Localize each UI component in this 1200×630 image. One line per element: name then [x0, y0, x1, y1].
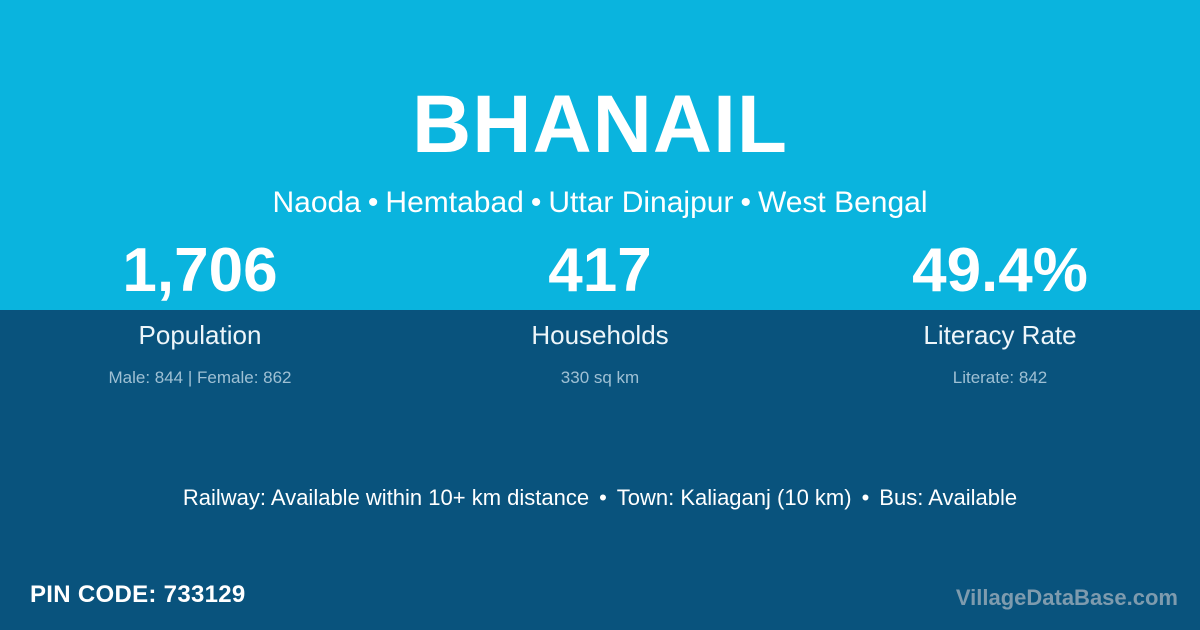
transport-separator: • [589, 485, 617, 510]
transport-item-town: Town: Kaliaganj (10 km) [617, 485, 852, 510]
card-header: BHANAIL Naoda•Hemtabad•Uttar Dinajpur•We… [0, 0, 1200, 218]
breadcrumb-separator: • [733, 186, 758, 219]
page-title: BHANAIL [0, 0, 1200, 166]
stat-label-population: Population [0, 312, 400, 348]
stat-value-literacy: 49.4% [800, 240, 1200, 312]
village-info-card: BHANAIL Naoda•Hemtabad•Uttar Dinajpur•We… [0, 0, 1200, 630]
site-watermark: VillageDataBase.com [956, 587, 1178, 609]
stat-value-population: 1,706 [0, 240, 400, 312]
breadcrumb-item-district: Uttar Dinajpur [548, 186, 733, 219]
transport-info: Railway: Available within 10+ km distanc… [0, 487, 1200, 509]
breadcrumb-item-subdistrict: Naoda [273, 186, 361, 219]
stat-label-households: Households [400, 312, 800, 348]
pin-code: PIN CODE: 733129 [30, 583, 246, 607]
stats-row: 1,706 Population Male: 844 | Female: 862… [0, 240, 1200, 386]
stat-card-households: 417 Households 330 sq km [400, 240, 800, 386]
breadcrumb: Naoda•Hemtabad•Uttar Dinajpur•West Benga… [0, 166, 1200, 218]
breadcrumb-item-state: West Bengal [758, 186, 928, 219]
transport-item-bus: Bus: Available [879, 485, 1017, 510]
stat-card-literacy: 49.4% Literacy Rate Literate: 842 [800, 240, 1200, 386]
transport-item-railway: Railway: Available within 10+ km distanc… [183, 485, 589, 510]
stat-card-population: 1,706 Population Male: 844 | Female: 862 [0, 240, 400, 386]
stat-sub-households: 330 sq km [400, 348, 800, 386]
card-footer: PIN CODE: 733129 VillageDataBase.com [0, 575, 1200, 630]
breadcrumb-separator: • [524, 186, 549, 219]
stat-sub-literacy: Literate: 842 [800, 348, 1200, 386]
stat-label-literacy: Literacy Rate [800, 312, 1200, 348]
stat-value-households: 417 [400, 240, 800, 312]
breadcrumb-item-block: Hemtabad [385, 186, 523, 219]
stat-sub-population: Male: 844 | Female: 862 [0, 348, 400, 386]
breadcrumb-separator: • [361, 186, 386, 219]
transport-separator: • [852, 485, 880, 510]
